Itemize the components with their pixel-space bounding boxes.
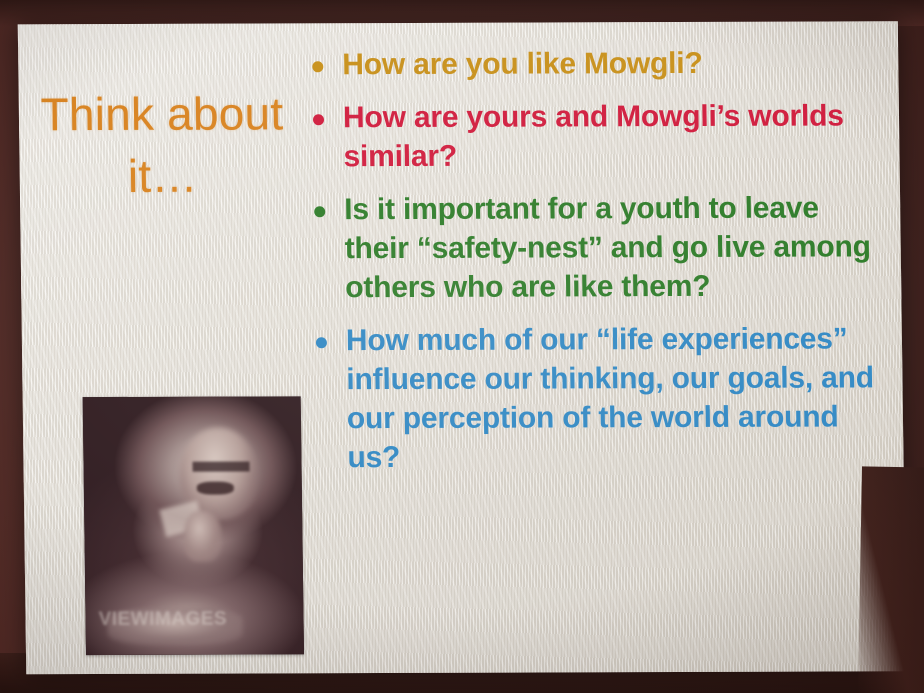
screen-corner-shadow xyxy=(858,466,924,693)
portrait-moustache xyxy=(197,482,234,495)
bullet-text: How are you like Mowgli? xyxy=(342,43,879,84)
slide-left-column: Think about it… VIEWIMAGES xyxy=(36,23,307,674)
page-title: Think about it… xyxy=(37,83,289,207)
slide-canvas: Think about it… VIEWIMAGES xyxy=(18,21,907,674)
bullet-text: Is it important for a youth to leave the… xyxy=(344,188,882,307)
list-item: How much of our “life experiences” influ… xyxy=(304,319,884,477)
author-portrait: VIEWIMAGES xyxy=(83,396,304,655)
photographed-scene: Think about it… VIEWIMAGES xyxy=(0,0,924,693)
bullet-text: How are yours and Mowgli’s worlds simila… xyxy=(343,96,880,176)
bullet-dot-icon xyxy=(316,337,327,348)
portrait-hand xyxy=(184,510,222,562)
list-item: Is it important for a youth to leave the… xyxy=(302,188,882,307)
list-item: How are yours and Mowgli’s worlds simila… xyxy=(301,96,880,176)
portrait-glasses xyxy=(192,461,249,472)
question-bullet-list: How are you like Mowgli? How are yours a… xyxy=(300,43,884,491)
list-item: How are you like Mowgli? xyxy=(300,43,879,84)
projected-slide: Think about it… VIEWIMAGES xyxy=(18,21,907,674)
portrait-image: VIEWIMAGES xyxy=(83,396,304,655)
bullet-dot-icon xyxy=(314,206,325,217)
portrait-watermark: VIEWIMAGES xyxy=(98,608,264,650)
bullet-text: How much of our “life experiences” influ… xyxy=(346,319,884,477)
bullet-dot-icon xyxy=(312,61,323,72)
bullet-dot-icon xyxy=(313,114,324,125)
